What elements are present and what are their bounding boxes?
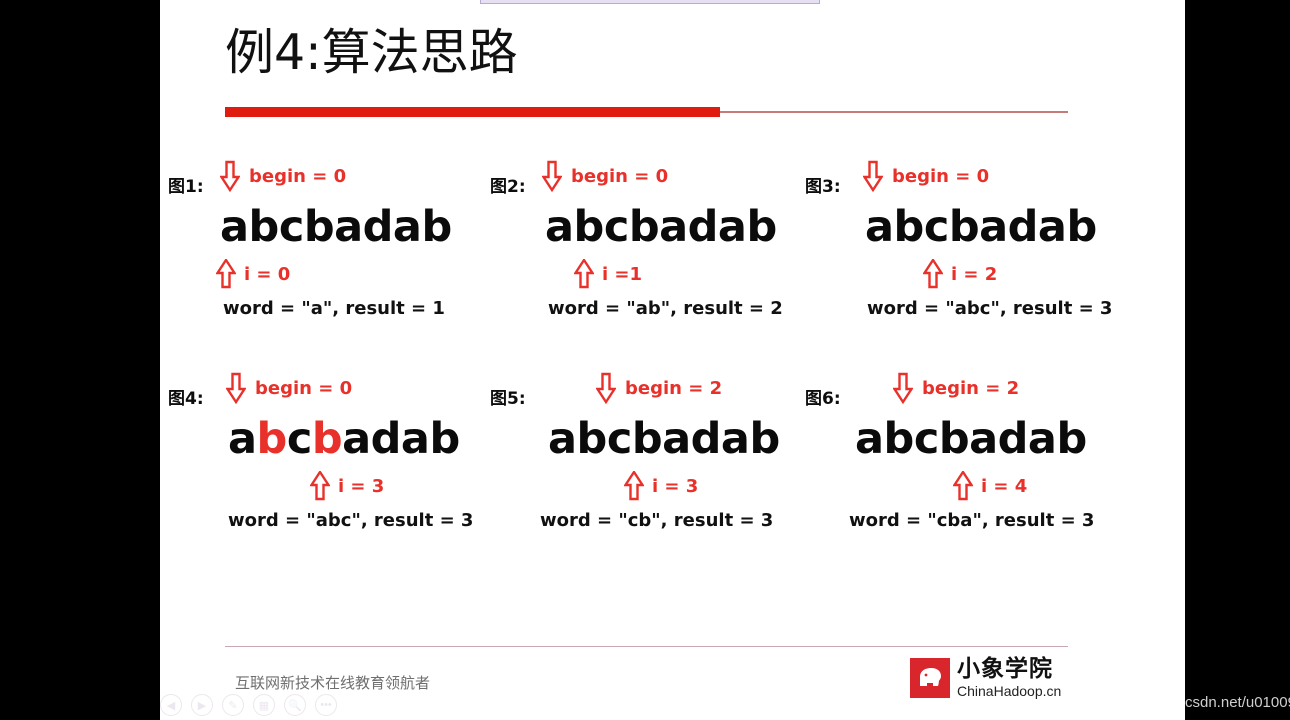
arrow-up-outline-icon bbox=[216, 259, 236, 289]
word-char: a bbox=[228, 414, 257, 464]
word-char: b bbox=[1066, 202, 1096, 252]
word-char: a bbox=[969, 414, 998, 464]
brand-text: 小象学院 ChinaHadoop.cn bbox=[957, 658, 1061, 698]
arrow-down-outline-icon bbox=[893, 372, 913, 404]
word-char: b bbox=[249, 202, 279, 252]
top-ui-strip bbox=[480, 0, 820, 4]
index-value-label: i = 0 bbox=[244, 264, 290, 285]
page-title: 例4:算法思路 bbox=[225, 22, 518, 84]
begin-pointer-annotation: begin = 0 bbox=[226, 372, 352, 404]
index-pointer-annotation: i = 4 bbox=[953, 471, 1027, 501]
word-string: abcbadab bbox=[220, 202, 452, 252]
more-options-icon[interactable]: ••• bbox=[315, 694, 337, 716]
arrow-up-outline-icon bbox=[624, 471, 644, 501]
index-pointer-annotation: i = 2 bbox=[923, 259, 997, 289]
state-line: word = "cba", result = 3 bbox=[849, 510, 1094, 531]
figure-panel: 图5:begin = 2abcbadabi = 3word = "cb", re… bbox=[490, 370, 820, 555]
word-char: a bbox=[855, 414, 884, 464]
arrow-down-outline-icon bbox=[220, 160, 240, 192]
arrow-up-outline-icon bbox=[953, 471, 973, 501]
watermark-right: csdn.net/u010099177 bbox=[1185, 694, 1290, 711]
word-char: b bbox=[749, 414, 779, 464]
word-string: abcbadab bbox=[545, 202, 777, 252]
index-pointer-annotation: i =1 bbox=[574, 259, 642, 289]
index-value-label: i =1 bbox=[602, 264, 642, 285]
word-char: b bbox=[577, 414, 607, 464]
begin-value-label: begin = 0 bbox=[892, 166, 989, 187]
pen-tool-icon[interactable]: ✎ bbox=[222, 694, 244, 716]
word-char: c bbox=[604, 202, 629, 252]
figure-label: 图5: bbox=[490, 384, 526, 409]
arrow-up-outline-icon bbox=[923, 259, 943, 289]
word-char: a bbox=[659, 202, 688, 252]
figure-panel: 图4:begin = 0abcbadabi = 3word = "abc", r… bbox=[168, 370, 498, 555]
next-slide-icon[interactable]: ▶ bbox=[191, 694, 213, 716]
word-char: b bbox=[949, 202, 979, 252]
word-char: a bbox=[718, 202, 747, 252]
begin-pointer-annotation: begin = 2 bbox=[893, 372, 1019, 404]
figure-panel: 图1:begin = 0abcbadabi = 0word = "a", res… bbox=[168, 158, 498, 343]
figure-panel: 图6:begin = 2abcbadabi = 4word = "cba", r… bbox=[805, 370, 1135, 555]
index-value-label: i = 3 bbox=[652, 476, 698, 497]
word-char: b bbox=[312, 414, 342, 464]
word-char: a bbox=[721, 414, 750, 464]
figure-label: 图3: bbox=[805, 172, 841, 197]
word-char: b bbox=[304, 202, 334, 252]
word-char: d bbox=[691, 414, 721, 464]
begin-value-label: begin = 0 bbox=[255, 378, 352, 399]
state-line: word = "abc", result = 3 bbox=[867, 298, 1112, 319]
arrow-down-outline-icon bbox=[863, 160, 883, 192]
previous-slide-icon[interactable]: ◀ bbox=[160, 694, 182, 716]
figure-label: 图2: bbox=[490, 172, 526, 197]
word-char: b bbox=[746, 202, 776, 252]
brand-logo: 小象学院 ChinaHadoop.cn bbox=[910, 658, 1061, 698]
word-char: a bbox=[393, 202, 422, 252]
word-char: b bbox=[1056, 414, 1086, 464]
arrow-down-outline-icon bbox=[596, 372, 616, 404]
word-string: abcbadab bbox=[865, 202, 1097, 252]
arrow-up-outline-icon bbox=[310, 471, 330, 501]
figure-panel: 图2:begin = 0abcbadabi =1word = "ab", res… bbox=[490, 158, 820, 343]
word-string: abcbadab bbox=[548, 414, 780, 464]
begin-pointer-annotation: begin = 0 bbox=[863, 160, 989, 192]
word-char: b bbox=[257, 414, 287, 464]
figure-label: 图4: bbox=[168, 384, 204, 409]
begin-value-label: begin = 0 bbox=[571, 166, 668, 187]
all-slides-icon[interactable]: ▦ bbox=[253, 694, 275, 716]
begin-value-label: begin = 2 bbox=[922, 378, 1019, 399]
word-char: a bbox=[334, 202, 363, 252]
word-char: a bbox=[865, 202, 894, 252]
word-char: d bbox=[371, 414, 401, 464]
word-char: b bbox=[629, 202, 659, 252]
presenter-controls[interactable]: ◀▶✎▦🔍••• bbox=[160, 694, 337, 716]
footer-tagline: 互联网新技术在线教育领航者 bbox=[235, 672, 430, 693]
word-char: d bbox=[363, 202, 393, 252]
begin-value-label: begin = 0 bbox=[249, 166, 346, 187]
word-string: abcbadab bbox=[228, 414, 460, 464]
index-value-label: i = 2 bbox=[951, 264, 997, 285]
word-char: b bbox=[632, 414, 662, 464]
word-char: a bbox=[548, 414, 577, 464]
index-pointer-annotation: i = 3 bbox=[624, 471, 698, 501]
word-char: b bbox=[939, 414, 969, 464]
word-char: b bbox=[429, 414, 459, 464]
footer-divider bbox=[225, 646, 1068, 647]
state-line: word = "ab", result = 2 bbox=[548, 298, 783, 319]
word-char: a bbox=[401, 414, 430, 464]
arrow-down-outline-icon bbox=[542, 160, 562, 192]
word-char: a bbox=[1038, 202, 1067, 252]
arrow-down-outline-icon bbox=[226, 372, 246, 404]
word-char: a bbox=[220, 202, 249, 252]
brand-name-en: ChinaHadoop.cn bbox=[957, 684, 1061, 698]
begin-pointer-annotation: begin = 2 bbox=[596, 372, 722, 404]
word-char: a bbox=[342, 414, 371, 464]
word-char: c bbox=[914, 414, 939, 464]
begin-pointer-annotation: begin = 0 bbox=[220, 160, 346, 192]
index-value-label: i = 3 bbox=[338, 476, 384, 497]
state-line: word = "abc", result = 3 bbox=[228, 510, 473, 531]
word-char: b bbox=[574, 202, 604, 252]
figure-panel: 图3:begin = 0abcbadabi = 2word = "abc", r… bbox=[805, 158, 1135, 343]
index-pointer-annotation: i = 0 bbox=[216, 259, 290, 289]
word-char: d bbox=[1008, 202, 1038, 252]
figure-label: 图1: bbox=[168, 172, 204, 197]
word-char: b bbox=[894, 202, 924, 252]
word-char: a bbox=[662, 414, 691, 464]
word-char: c bbox=[287, 414, 312, 464]
presentation-slide: 例4:算法思路 图1:begin = 0abcbadabi = 0word = … bbox=[160, 0, 1185, 720]
word-char: a bbox=[545, 202, 574, 252]
word-char: a bbox=[979, 202, 1008, 252]
word-char: c bbox=[279, 202, 304, 252]
word-char: b bbox=[884, 414, 914, 464]
word-char: d bbox=[998, 414, 1028, 464]
index-value-label: i = 4 bbox=[981, 476, 1027, 497]
word-char: c bbox=[924, 202, 949, 252]
arrow-up-outline-icon bbox=[574, 259, 594, 289]
word-char: b bbox=[421, 202, 451, 252]
title-underline-accent bbox=[225, 107, 720, 117]
zoom-icon[interactable]: 🔍 bbox=[284, 694, 306, 716]
word-char: a bbox=[1028, 414, 1057, 464]
word-char: d bbox=[688, 202, 718, 252]
word-char: c bbox=[607, 414, 632, 464]
figure-label: 图6: bbox=[805, 384, 841, 409]
state-line: word = "a", result = 1 bbox=[223, 298, 445, 319]
index-pointer-annotation: i = 3 bbox=[310, 471, 384, 501]
state-line: word = "cb", result = 3 bbox=[540, 510, 773, 531]
word-string: abcbadab bbox=[855, 414, 1087, 464]
begin-pointer-annotation: begin = 0 bbox=[542, 160, 668, 192]
begin-value-label: begin = 2 bbox=[625, 378, 722, 399]
video-frame: 例4:算法思路 图1:begin = 0abcbadabi = 0word = … bbox=[0, 0, 1290, 720]
title-block: 例4:算法思路 bbox=[160, 16, 1185, 116]
elephant-logo-icon bbox=[910, 658, 950, 698]
brand-name-cn: 小象学院 bbox=[957, 658, 1061, 681]
